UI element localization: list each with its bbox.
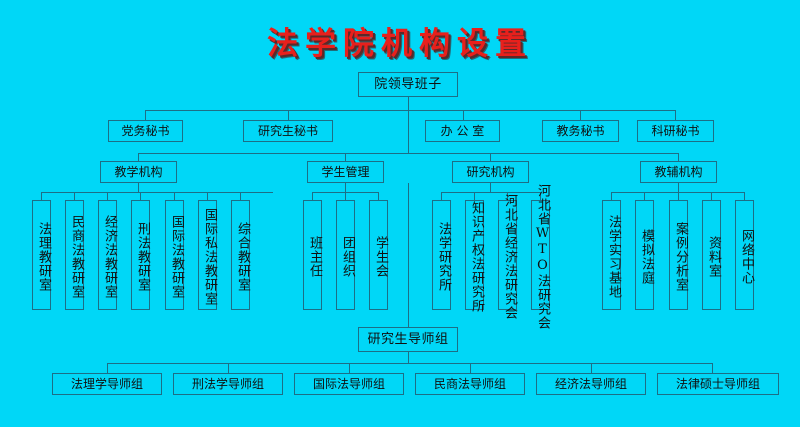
connector-drop-teach-5	[207, 192, 208, 200]
connector-drop-stu-1	[345, 192, 346, 200]
node-teaching-dept-3[interactable]: 刑法教研室	[131, 200, 150, 310]
node-advisor-group-3[interactable]: 民商法导师组	[415, 373, 525, 395]
node-level3-1[interactable]: 学生管理	[307, 161, 384, 183]
connector-drop-adv-3	[470, 363, 471, 373]
connector-drop-stu-0	[312, 192, 313, 200]
node-student-mgmt-0[interactable]: 班主任	[303, 200, 322, 310]
connector-drop-res-0	[441, 192, 442, 200]
connector-drop-l2-4	[580, 110, 581, 120]
connector-drop-teach-0	[41, 192, 42, 200]
node-teaching-dept-5[interactable]: 国际私法教研室	[198, 200, 217, 310]
connector-drop-l3-3	[490, 153, 491, 161]
connector-drop-sup-1	[644, 192, 645, 200]
connector-advisor-stem	[408, 352, 409, 363]
connector-level3-bus	[138, 153, 678, 154]
node-teaching-support-1[interactable]: 模拟法庭	[635, 200, 654, 310]
connector-drop-teach-1	[74, 192, 75, 200]
node-student-mgmt-1[interactable]: 团组织	[336, 200, 355, 310]
node-advisor-group-4[interactable]: 经济法导师组	[536, 373, 646, 395]
connector-drop-sup-0	[611, 192, 612, 200]
connector-support-stem	[678, 183, 679, 192]
node-level2-2[interactable]: 办 公 室	[425, 120, 500, 142]
connector-drop-teach-2	[107, 192, 108, 200]
org-chart-canvas: 法学院机构设置 院领导班子 党务秘书 研究生秘书 办 公 室 教务秘书 科研秘书…	[0, 0, 800, 427]
connector-drop-stu-2	[378, 192, 379, 200]
connector-drop-l3-4	[678, 153, 679, 161]
node-level3-3[interactable]: 教辅机构	[640, 161, 717, 183]
node-level2-1[interactable]: 研究生秘书	[243, 120, 333, 142]
node-teaching-dept-4[interactable]: 国际法教研室	[165, 200, 184, 310]
connector-research-stem	[490, 183, 491, 192]
connector-drop-teach-3	[140, 192, 141, 200]
node-advisor-group-2[interactable]: 国际法导师组	[294, 373, 404, 395]
node-research-inst-2[interactable]: 河北省经济法研究会	[498, 200, 517, 310]
connector-drop-teach-6	[240, 192, 241, 200]
connector-spine-lower	[408, 183, 409, 327]
node-advisor-group-0[interactable]: 法理学导师组	[52, 373, 162, 395]
connector-drop-adv-5	[712, 363, 713, 373]
node-research-inst-1[interactable]: 知识产权法研究所	[465, 200, 484, 310]
node-level2-0[interactable]: 党务秘书	[108, 120, 183, 142]
connector-drop-l3-1	[138, 153, 139, 161]
node-student-mgmt-2[interactable]: 学生会	[369, 200, 388, 310]
connector-teaching-stem	[138, 183, 139, 192]
connector-drop-res-1	[474, 192, 475, 200]
node-teaching-dept-6[interactable]: 综合教研室	[231, 200, 250, 310]
node-teaching-dept-2[interactable]: 经济法教研室	[98, 200, 117, 310]
node-level3-2[interactable]: 研究机构	[452, 161, 529, 183]
connector-drop-teach-4	[174, 192, 175, 200]
connector-root-stem	[408, 97, 409, 110]
node-level2-3[interactable]: 教务秘书	[542, 120, 619, 142]
node-teaching-support-4[interactable]: 网络中心	[735, 200, 754, 310]
connector-teaching-bus	[41, 192, 273, 193]
connector-drop-l2-5	[675, 110, 676, 120]
connector-level2-bus	[145, 110, 675, 111]
node-level3-0[interactable]: 教学机构	[100, 161, 177, 183]
node-teaching-dept-0[interactable]: 法理教研室	[32, 200, 51, 310]
connector-drop-l2-3	[463, 110, 464, 120]
connector-advisor-bus	[107, 363, 712, 364]
page-title: 法学院机构设置	[0, 18, 800, 63]
connector-drop-sup-3	[711, 192, 712, 200]
connector-drop-l3-2	[345, 153, 346, 161]
node-research-inst-3[interactable]: 河北省WTO法研究会	[531, 200, 550, 310]
node-research-inst-0[interactable]: 法学研究所	[432, 200, 451, 310]
connector-research-bus	[441, 192, 540, 193]
node-teaching-support-2[interactable]: 案例分析室	[669, 200, 688, 310]
connector-drop-adv-1	[228, 363, 229, 373]
node-level2-4[interactable]: 科研秘书	[637, 120, 714, 142]
connector-drop-l2-1	[145, 110, 146, 120]
connector-spine-main	[408, 110, 409, 153]
node-teaching-dept-1[interactable]: 民商法教研室	[65, 200, 84, 310]
node-advisor-group-5[interactable]: 法律硕士导师组	[657, 373, 779, 395]
node-root[interactable]: 院领导班子	[358, 72, 458, 97]
node-teaching-support-3[interactable]: 资料室	[702, 200, 721, 310]
connector-drop-adv-4	[591, 363, 592, 373]
connector-drop-adv-0	[107, 363, 108, 373]
connector-drop-sup-4	[744, 192, 745, 200]
connector-drop-sup-2	[678, 192, 679, 200]
connector-drop-adv-2	[349, 363, 350, 373]
connector-student-stem	[345, 183, 346, 192]
connector-drop-l2-2	[288, 110, 289, 120]
node-advisor-root[interactable]: 研究生导师组	[358, 327, 458, 352]
node-advisor-group-1[interactable]: 刑法学导师组	[173, 373, 283, 395]
node-teaching-support-0[interactable]: 法学实习基地	[602, 200, 621, 310]
